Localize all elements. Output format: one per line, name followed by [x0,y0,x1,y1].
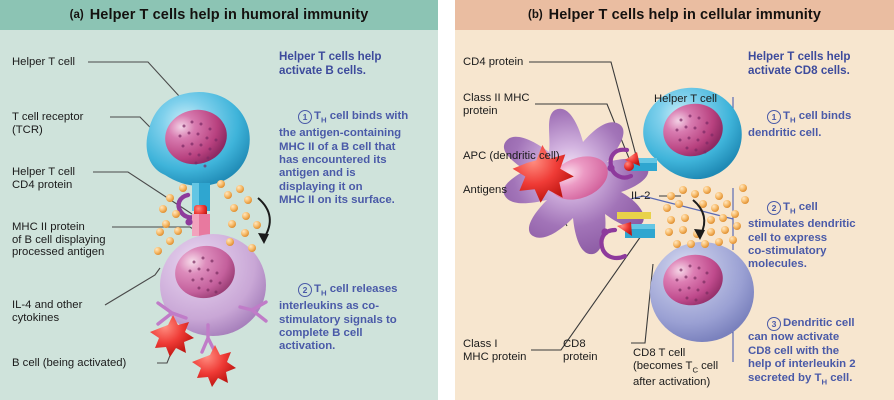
step-1-text: TH cell bindsdendritic cell. [748,110,851,139]
panel-b-letter: (b) [528,9,543,21]
panel-b-headline: Helper T cells helpactivate CD8 cells. [748,50,850,77]
step-number-1: 1 [298,110,312,124]
panel-cellular-immunity: (b) Helper T cells help in cellular immu… [455,0,894,400]
step-number-1: 1 [767,110,781,124]
label-il2: IL-2 [631,190,650,203]
panel-b-step-2: 2TH cellstimulates dendriticcell to expr… [748,188,856,285]
label-cd8-t-cell: CD8 T cell(becomes TC cellafter activati… [633,347,718,389]
step-number-2: 2 [298,283,312,297]
figure-root: (a) Helper T cells help in humoral immun… [0,0,894,400]
step-2-text: TH cellstimulates dendriticcell to expre… [748,201,856,270]
label-antigens: Antigens [463,184,507,197]
step-number-3: 3 [767,317,781,331]
panel-b-step-1: 1TH cell bindsdendritic cell. [748,97,851,154]
panel-a-title: Helper T cells help in humoral immunity [90,7,369,23]
panel-b-step-3: 3Dendritic cellcan now activateCD8 cell … [748,304,856,400]
label-apc-dendritic-cell: APC (dendritic cell) [463,150,560,163]
panel-a-header: (a) Helper T cells help in humoral immun… [0,0,438,30]
label-b-cell: B cell (being activated) [12,357,126,370]
label-class-i-mhc-protein: Class I MHC protein [463,338,526,363]
step-1-text: TH cell binds withthe antigen-containing… [279,110,408,206]
panel-a-step-2: 2TH cell releasesinterleukins as co-stim… [279,270,398,367]
label-cd4-protein: CD4 protein [463,56,523,69]
label-class-ii-mhc-protein: Class II MHC protein [463,92,530,117]
label-mhc-ii-protein: MHC II protein of B cell displaying proc… [12,221,106,259]
label-helper-t-cell: Helper T cell [654,93,717,106]
label-helper-t-cell: Helper T cell [12,56,75,69]
label-cd8-protein: CD8 protein [563,338,598,363]
label-t-cell-receptor: T cell receptor (TCR) [12,111,83,136]
label-cd4-protein: Helper T cell CD4 protein [12,166,75,191]
step-2-text: TH cell releasesinterleukins as co-stimu… [279,283,398,352]
panel-a-headline: Helper T cells helpactivate B cells. [279,50,381,77]
step-3-text: Dendritic cellcan now activateCD8 cell w… [748,317,856,383]
panel-b-header: (b) Helper T cells help in cellular immu… [455,0,894,30]
panel-humoral-immunity: (a) Helper T cells help in humoral immun… [0,0,438,400]
label-il4-cytokines: IL-4 and other cytokines [12,299,82,324]
panel-a-step-1: 1TH cell binds withthe antigen-containin… [279,97,408,221]
step-number-2: 2 [767,201,781,215]
panel-a-letter: (a) [70,9,84,21]
panel-b-title: Helper T cells help in cellular immunity [549,7,821,23]
